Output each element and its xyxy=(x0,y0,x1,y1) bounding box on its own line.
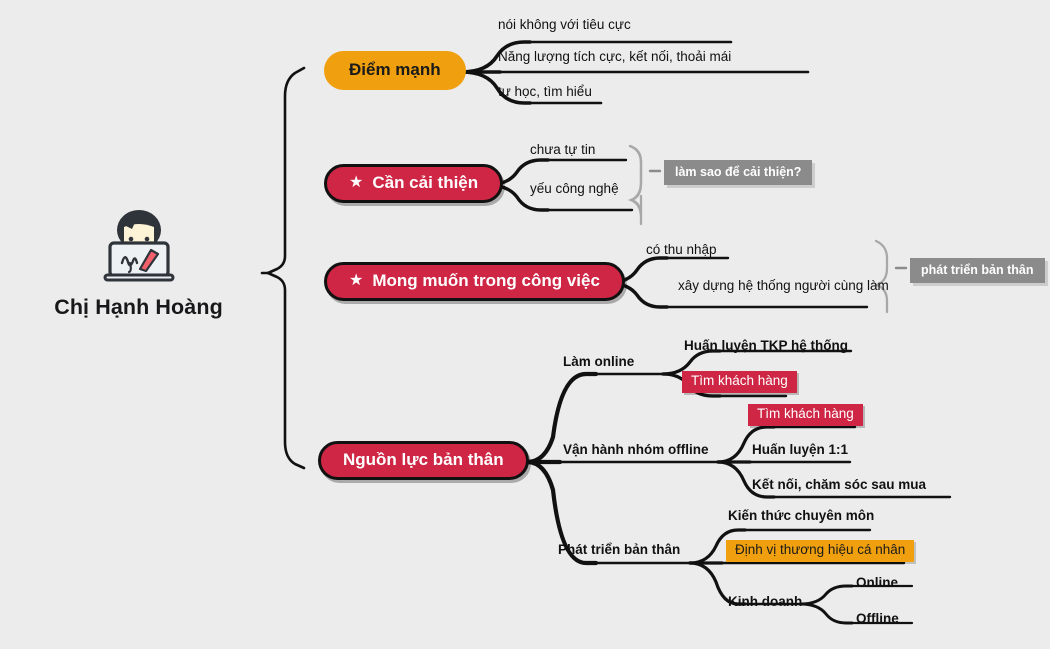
leaf-lam-online[interactable]: Làm online xyxy=(563,355,634,370)
node-label: Nguồn lực bản thân xyxy=(343,451,504,470)
leaf-kinh-doanh-online[interactable]: Online xyxy=(856,576,898,591)
leaf-van-hanh-nhom-offline[interactable]: Vận hành nhóm offline xyxy=(563,443,709,458)
node-mong-muon-trong-cong-viec[interactable]: ★ Mong muốn trong công việc xyxy=(324,262,625,301)
leaf-kien-thuc-chuyen-mon[interactable]: Kiến thức chuyên môn xyxy=(728,509,874,524)
star-icon: ★ xyxy=(349,175,363,191)
person-at-laptop-icon xyxy=(96,205,182,287)
leaf-noi-khong-voi-tieu-cuc[interactable]: nói không với tiêu cực xyxy=(498,18,631,33)
star-icon: ★ xyxy=(349,273,363,289)
leaf-nang-luong-tich-cuc[interactable]: Năng lượng tích cực, kết nối, thoải mái xyxy=(498,50,731,65)
root-title: Chị Hạnh Hoàng xyxy=(36,295,241,320)
leaf-yeu-cong-nghe[interactable]: yếu công nghệ xyxy=(530,182,619,197)
root-node[interactable]: Chị Hạnh Hoàng xyxy=(36,205,241,320)
leaf-tu-hoc-tim-hieu[interactable]: tự học, tìm hiểu xyxy=(498,85,592,100)
node-label: Cần cải thiện xyxy=(372,174,478,193)
leaf-chua-tu-tin[interactable]: chưa tự tin xyxy=(530,143,595,158)
leaf-dinh-vi-thuong-hieu-ca-nhan[interactable]: Định vị thương hiệu cá nhân xyxy=(726,540,914,562)
leaf-kinh-doanh-offline[interactable]: Offline xyxy=(856,612,899,627)
node-nguon-luc-ban-than[interactable]: Nguồn lực bản thân xyxy=(318,441,529,480)
node-label: Mong muốn trong công việc xyxy=(372,272,600,291)
leaf-huan-luyen-1-1[interactable]: Huấn luyện 1:1 xyxy=(752,443,848,458)
leaf-kinh-doanh[interactable]: Kinh doanh xyxy=(728,595,802,610)
mindmap-canvas: Chị Hạnh Hoàng Điểm mạnh nói không với t… xyxy=(0,0,1050,649)
leaf-co-thu-nhap[interactable]: có thu nhập xyxy=(646,243,717,258)
leaf-tim-khach-hang-online[interactable]: Tìm khách hàng xyxy=(682,371,797,393)
callout-lam-sao-de-cai-thien[interactable]: làm sao để cải thiện? xyxy=(664,160,812,185)
leaf-phat-trien-ban-than[interactable]: Phát triển bản thân xyxy=(558,543,680,558)
node-diem-manh[interactable]: Điểm mạnh xyxy=(324,51,466,90)
leaf-ket-noi-cham-soc-sau-mua[interactable]: Kết nối, chăm sóc sau mua xyxy=(752,478,926,493)
node-can-cai-thien[interactable]: ★ Cần cải thiện xyxy=(324,164,503,203)
leaf-xay-dung-he-thong[interactable]: xây dựng hệ thống người cùng làm xyxy=(678,279,889,294)
callout-phat-trien-ban-than[interactable]: phát triển bản thân xyxy=(910,258,1045,283)
leaf-huan-luyen-tkp-he-thong[interactable]: Huấn luyện TKP hệ thống xyxy=(684,339,848,354)
leaf-tim-khach-hang-offline[interactable]: Tìm khách hàng xyxy=(748,404,863,426)
node-label: Điểm mạnh xyxy=(349,61,441,80)
